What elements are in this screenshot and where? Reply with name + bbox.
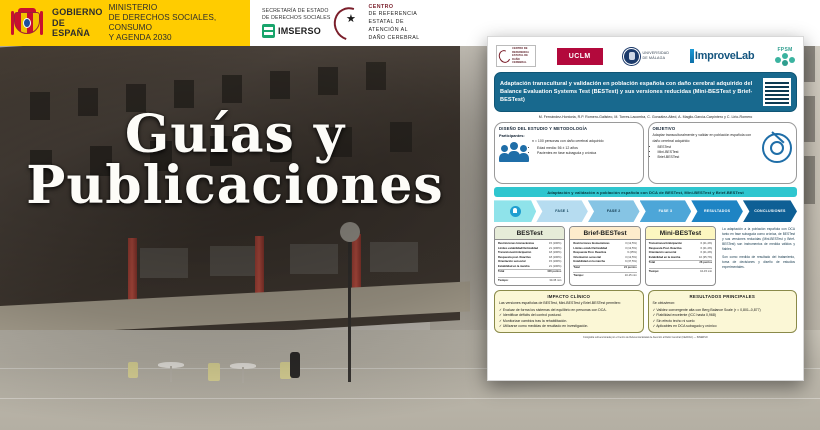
fpsm-flower-icon	[775, 53, 795, 66]
poster-footer-note: Fotografía subvencionada por el Centro d…	[494, 336, 797, 340]
row-value: 28 puntos	[699, 261, 712, 265]
time-value: 30-35 min	[549, 279, 561, 283]
item-text: Fiabilidad excelente (ICC hasta 0,968)	[656, 313, 716, 317]
flow-step-conclusiones: CONCLUSIONES	[743, 200, 797, 222]
improvelab-logo: ImproveLab	[690, 49, 754, 63]
main-results-heading: RESULTADOS PRINCIPALES	[653, 294, 793, 299]
imserso-label: IMSERSO	[278, 26, 321, 36]
clinical-impact-heading: IMPACTO CLÍNICO	[499, 294, 639, 299]
participants-count: n = 100 personas con daño cerebral adqui…	[532, 139, 604, 144]
brief-bestest-table: Restricciones biomecánicas3 (12,5%) Lími…	[570, 240, 639, 280]
bestest-header: BESTest	[495, 227, 564, 240]
table-row: Estabilidad en la marcha9 (37,5%)	[573, 260, 636, 264]
ceadac-logo: CENTRO DE REFERENCIA ESTATAL DE DAÑO CER…	[496, 45, 536, 67]
row-key: Total	[649, 261, 697, 265]
poster-authors: M. Fernández-Hontoria, R.P. Romero-Galis…	[494, 112, 797, 122]
uma-logo-line2: DE MÁLAGA	[642, 56, 669, 61]
flow-step-fase-3: FASE 3	[640, 200, 692, 222]
imserso-logo: IMSERSO	[262, 24, 330, 38]
mini-bestest-column: Mini-BESTest Transiciones/Anticipación6 …	[645, 226, 716, 286]
poster-method-objective-row: DISEÑO DEL ESTUDIO Y METODOLOGÍA Partici…	[494, 122, 797, 184]
conclusions-paragraph-1: La adaptación a la población española co…	[722, 227, 795, 252]
page-title-line2: Publicaciones	[0, 161, 470, 212]
participants-label: Participantes:	[499, 133, 639, 138]
item-text: Aplicables en DCA subagudo y crónico	[656, 324, 716, 328]
study-design-card: DISEÑO DEL ESTUDIO Y METODOLOGÍA Partici…	[494, 122, 644, 184]
ministerio-line3: Y AGENDA 2030	[109, 33, 250, 43]
gobierno-de-espana-block: GOBIERNO DE ESPAÑA MINISTERIO DE DERECHO…	[0, 0, 250, 46]
row-key: Estabilidad en la marcha	[573, 260, 622, 264]
gobierno-label: GOBIERNO DE ESPAÑA	[52, 7, 103, 38]
lightbulb-icon	[510, 206, 521, 217]
ceadac-swirl-icon	[497, 48, 513, 64]
mini-bestest-table: Transiciones/Anticipación6 (21,4%) Respu…	[646, 240, 715, 276]
ceadac-logo: CENTRO DE REFERENCIA ESTATAL DE ATENCIÓN…	[330, 4, 419, 42]
objective-bullets: BESTest Mini-BESTest Brief-BESTest	[653, 145, 760, 161]
universidad-malaga-logo: UNIVERSIDAD DE MÁLAGA	[623, 48, 669, 65]
brief-bestest-header: Brief-BESTest	[570, 227, 639, 240]
flow-step-lightbulb	[494, 200, 536, 222]
main-results-box: RESULTADOS PRINCIPALES Se obtuvieron: ✓ …	[648, 290, 798, 333]
ceadac-line5: DAÑO CEREBRAL	[368, 35, 419, 43]
secretaria-label: SECRETARÍA DE ESTADO DE DERECHOS SOCIALE…	[262, 8, 330, 22]
participants-bullet: Pacientes en fase subaguda y crónica	[537, 151, 604, 156]
row-value: 10 (35,7%)	[699, 256, 712, 260]
table-row: Estabilidad en la marcha21 (100%)	[498, 265, 561, 269]
tests-comparison-row: BESTest Restricciones biomecánicas15 (10…	[494, 226, 797, 286]
poster-bottom-row: IMPACTO CLÍNICO Las versiones españolas …	[494, 290, 797, 333]
conclusions-paragraph-2: Son como medida de resultado del tratami…	[722, 255, 795, 270]
participants-bullets: Edad media: 56 ± 12 años Pacientes en fa…	[532, 146, 604, 157]
study-design-heading: DISEÑO DEL ESTUDIO Y METODOLOGÍA	[499, 126, 639, 131]
flow-step-fase-2: FASE 2	[588, 200, 640, 222]
main-results-item: ✓ Aplicables en DCA subagudo y crónico	[653, 324, 793, 329]
objective-heading: OBJETIVO	[653, 126, 793, 131]
improvelab-label: ImproveLab	[695, 50, 754, 62]
item-text: Evaluar de forma los sistemas del equili…	[503, 308, 607, 312]
spain-coat-of-arms-icon	[10, 8, 44, 38]
bestest-column: BESTest Restricciones biomecánicas15 (10…	[494, 226, 565, 286]
uma-seal-icon	[623, 48, 640, 65]
ceadac-swirl-icon	[334, 7, 364, 39]
ceadac-label: CENTRO DE REFERENCIA ESTATAL DE ATENCIÓN…	[368, 4, 419, 42]
table-row-time: Tiempo:10-15 min	[649, 268, 712, 274]
poster-title: Adaptación transcultural y validación en…	[500, 80, 759, 104]
ceadac-logo-line4: DAÑO CEREBRAL	[512, 58, 533, 65]
ministerio-label: MINISTERIO DE DERECHOS SOCIALES, CONSUMO…	[109, 3, 250, 44]
time-label: Tiempo:	[573, 274, 621, 278]
gobierno-line2: DE ESPAÑA	[52, 18, 103, 39]
target-arrow-icon	[762, 133, 792, 163]
process-flow: FASE 1 FASE 2 FASE 3 RESULTADOS CONCLUSI…	[494, 200, 797, 222]
flow-step-resultados: RESULTADOS	[691, 200, 743, 222]
participants-detail: n = 100 personas con daño cerebral adqui…	[532, 139, 604, 156]
item-text: Validez convergente alta con Berg Balanc…	[656, 308, 760, 312]
time-value: 10-15 min	[625, 274, 637, 278]
item-text: Monitorizar cambios tras la rehabilitaci…	[503, 319, 567, 323]
conclusions-text: La adaptación a la población española co…	[720, 226, 797, 286]
improvelab-bar-icon	[690, 49, 694, 63]
time-value: 10-15 min	[700, 270, 712, 274]
uclm-logo: UCLM	[557, 48, 603, 65]
item-text: Identificar déficits del control postura…	[503, 313, 562, 317]
mini-bestest-header: Mini-BESTest	[646, 227, 715, 240]
main-results-intro: Se obtuvieron:	[653, 301, 793, 306]
uma-logo-text: UNIVERSIDAD DE MÁLAGA	[642, 51, 669, 60]
ceadac-line1: CENTRO	[368, 4, 393, 10]
row-key: Total	[573, 266, 621, 270]
imserso-mark-icon	[262, 24, 275, 38]
clinical-impact-intro: Las versiones españolas de BESTest, Mini…	[499, 301, 639, 306]
objective-bullet: Brief-BESTest	[658, 155, 760, 160]
table-row-time: Tiempo:30-35 min	[498, 277, 561, 283]
item-text: Sin efecto techo ni suelo	[656, 319, 694, 323]
row-value: 21 (100%)	[549, 265, 561, 269]
ceadac-logo-text: CENTRO DE REFERENCIA ESTATAL DE DAÑO CER…	[512, 47, 533, 65]
bestest-table: Restricciones biomecánicas15 (100%) Lími…	[495, 240, 564, 285]
table-row-time: Tiempo:10-15 min	[573, 272, 636, 278]
ministerio-line2: DE DERECHOS SOCIALES, CONSUMO	[109, 13, 250, 34]
table-row-total: Total28 puntos	[649, 260, 712, 265]
row-key: Estabilidad en la marcha	[498, 265, 546, 269]
page-title: Guías y Publicaciones	[0, 110, 470, 212]
poster-title-banner: Adaptación transcultural y validación en…	[494, 72, 797, 112]
ceadac-line2: DE REFERENCIA	[368, 11, 419, 19]
gobierno-line1: GOBIERNO	[52, 7, 103, 17]
secretaria-imserso-group: SECRETARÍA DE ESTADO DE DERECHOS SOCIALE…	[250, 8, 330, 39]
fpsm-logo: FPSM	[775, 47, 795, 66]
group-of-people-icon	[499, 139, 529, 163]
objective-detail: Adaptar transculturalmente y validar en …	[653, 133, 760, 160]
secretaria-line1: SECRETARÍA DE ESTADO	[262, 8, 330, 15]
table-row-total: Total24 puntos	[573, 265, 636, 270]
ceadac-line3: ESTATAL DE	[368, 19, 419, 27]
row-value: 24 puntos	[624, 266, 637, 270]
hero-title-block: Guías y Publicaciones	[0, 110, 470, 212]
item-text: Utilizarse como medidas de resultado en …	[503, 324, 588, 328]
row-key: Total	[498, 270, 544, 274]
secretaria-line2: DE DERECHOS SOCIALES	[262, 15, 330, 22]
table-row: Estabilidad en la marcha10 (35,7%)	[649, 256, 712, 260]
time-label: Tiempo:	[649, 270, 697, 274]
flow-step-fase-1: FASE 1	[536, 200, 588, 222]
objective-card: OBJETIVO Adaptar transculturalmente y va…	[648, 122, 798, 184]
row-value: 9 (37,5%)	[625, 260, 637, 264]
poster-logo-row: CENTRO DE REFERENCIA ESTATAL DE DAÑO CER…	[494, 42, 797, 70]
brief-bestest-column: Brief-BESTest Restricciones biomecánicas…	[569, 226, 640, 286]
banner-stage: GOBIERNO DE ESPAÑA MINISTERIO DE DERECHO…	[0, 0, 820, 430]
clinical-impact-box: IMPACTO CLÍNICO Las versiones españolas …	[494, 290, 644, 333]
research-poster[interactable]: CENTRO DE REFERENCIA ESTATAL DE DAÑO CER…	[487, 36, 804, 381]
ministerio-line1: MINISTERIO	[109, 3, 250, 13]
time-label: Tiempo:	[498, 279, 546, 283]
ceadac-line4: ATENCIÓN AL	[368, 27, 419, 35]
table-row-total: Total108 puntos	[498, 269, 561, 274]
poster-teal-banner: Adaptación y validación a población espa…	[494, 187, 797, 197]
row-value: 108 puntos	[547, 270, 561, 274]
qr-code-icon[interactable]	[763, 78, 791, 106]
objective-text: Adaptar transculturalmente y validar en …	[653, 133, 760, 144]
clinical-impact-item: ✓ Utilizarse como medidas de resultado e…	[499, 324, 639, 329]
row-key: Estabilidad en la marcha	[649, 256, 696, 260]
